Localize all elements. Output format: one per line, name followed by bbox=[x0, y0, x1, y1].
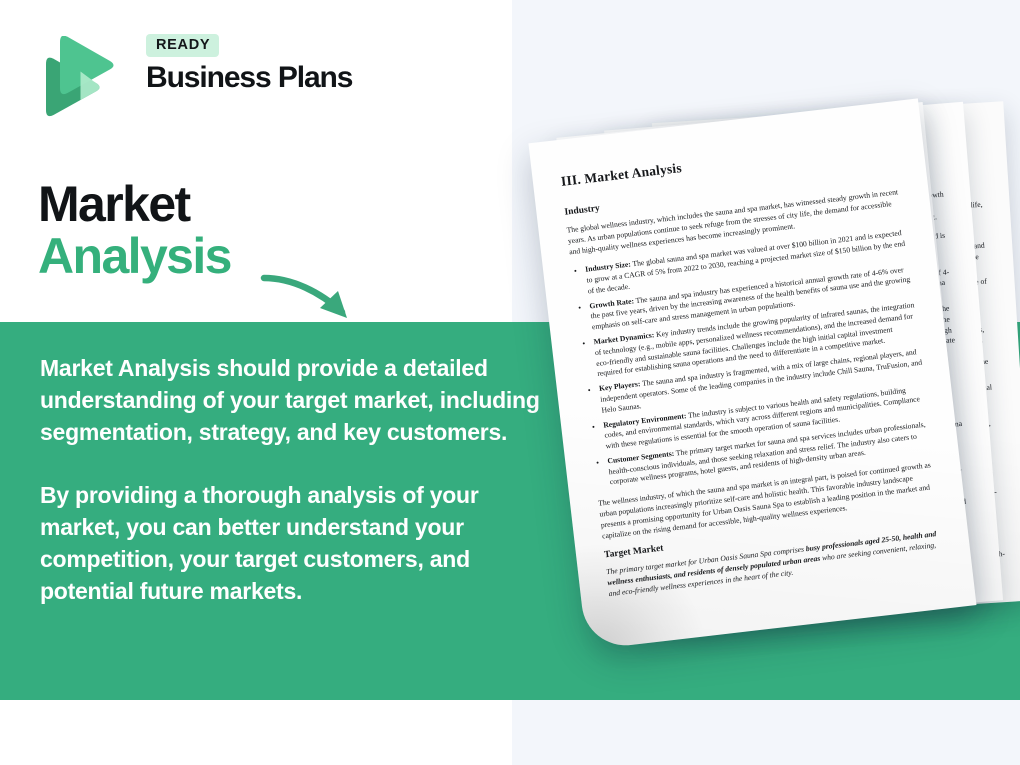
description-paragraph-2: By providing a thorough analysis of your… bbox=[40, 479, 560, 608]
slide-canvas: READY Business Plans Market Analysis Mar… bbox=[0, 0, 1020, 765]
document-sheet-front[interactable]: III. Market Analysis Industry The global… bbox=[528, 98, 976, 650]
document-stack: III. Market Analysis Industry The global… bbox=[520, 100, 1020, 700]
ready-badge: READY bbox=[146, 34, 219, 57]
curved-arrow-down-right-icon bbox=[258, 266, 370, 328]
document-body: III. Market Analysis Industry The global… bbox=[528, 98, 976, 650]
double-play-triangle-logo-icon bbox=[38, 36, 116, 118]
brand-wordmark: READY Business Plans bbox=[146, 34, 376, 120]
page-title-line1: Market bbox=[38, 178, 478, 230]
brand-logo[interactable]: READY Business Plans bbox=[38, 34, 368, 120]
description-text-block: Market Analysis should provide a detaile… bbox=[40, 352, 560, 607]
brand-name: Business Plans bbox=[146, 62, 376, 94]
doc-bullet-list: Industry Size: The global sauna and spa … bbox=[571, 228, 933, 490]
description-paragraph-1: Market Analysis should provide a detaile… bbox=[40, 352, 560, 449]
